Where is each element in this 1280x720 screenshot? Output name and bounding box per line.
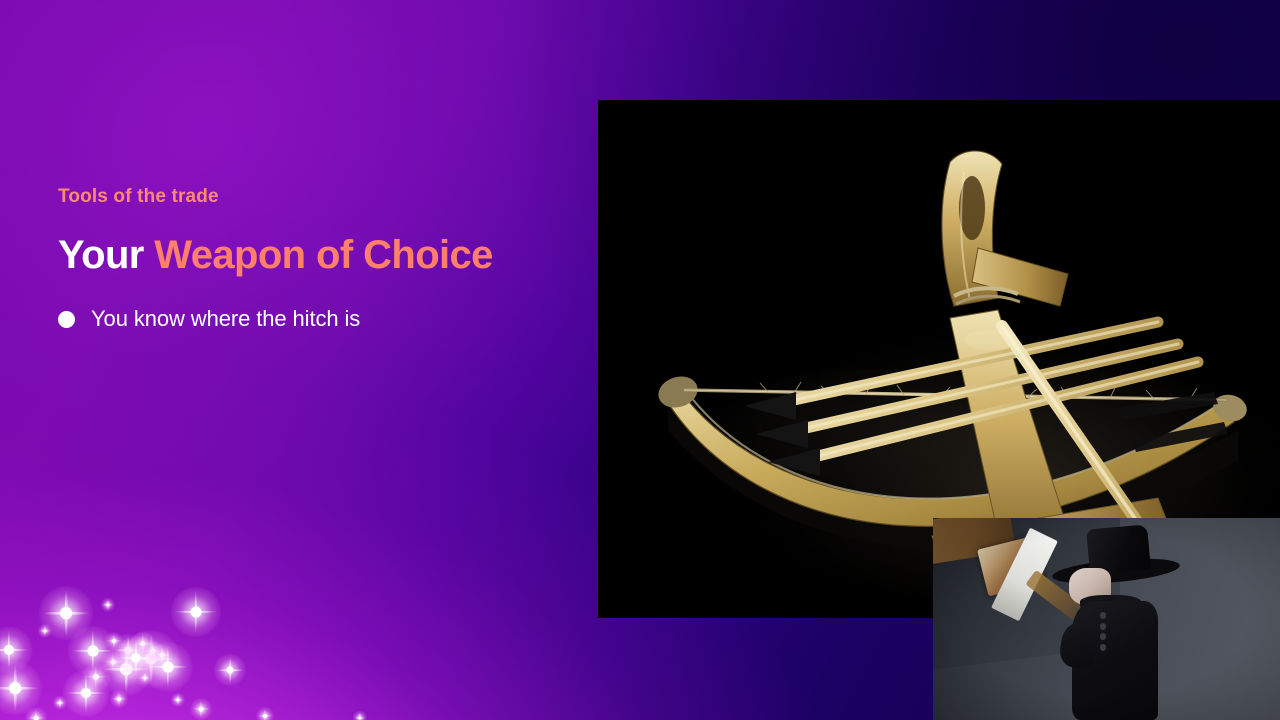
slide-headline: Your Weapon of Choice (58, 234, 578, 276)
headline-accent-phrase: Weapon of Choice (154, 233, 493, 277)
bullet-list-item: You know where the hitch is (58, 306, 578, 332)
bullet-item-label: You know where the hitch is (91, 306, 360, 332)
slide-text-block: Tools of the trade Your Weapon of Choice… (58, 186, 578, 332)
headline-lead-word: Your (58, 233, 144, 277)
presentation-slide: Tools of the trade Your Weapon of Choice… (0, 0, 1280, 720)
inset-photo-archer (933, 518, 1280, 720)
bullet-dot-icon (58, 311, 75, 328)
slide-eyebrow: Tools of the trade (58, 186, 578, 208)
inset-vignette (933, 518, 1280, 720)
